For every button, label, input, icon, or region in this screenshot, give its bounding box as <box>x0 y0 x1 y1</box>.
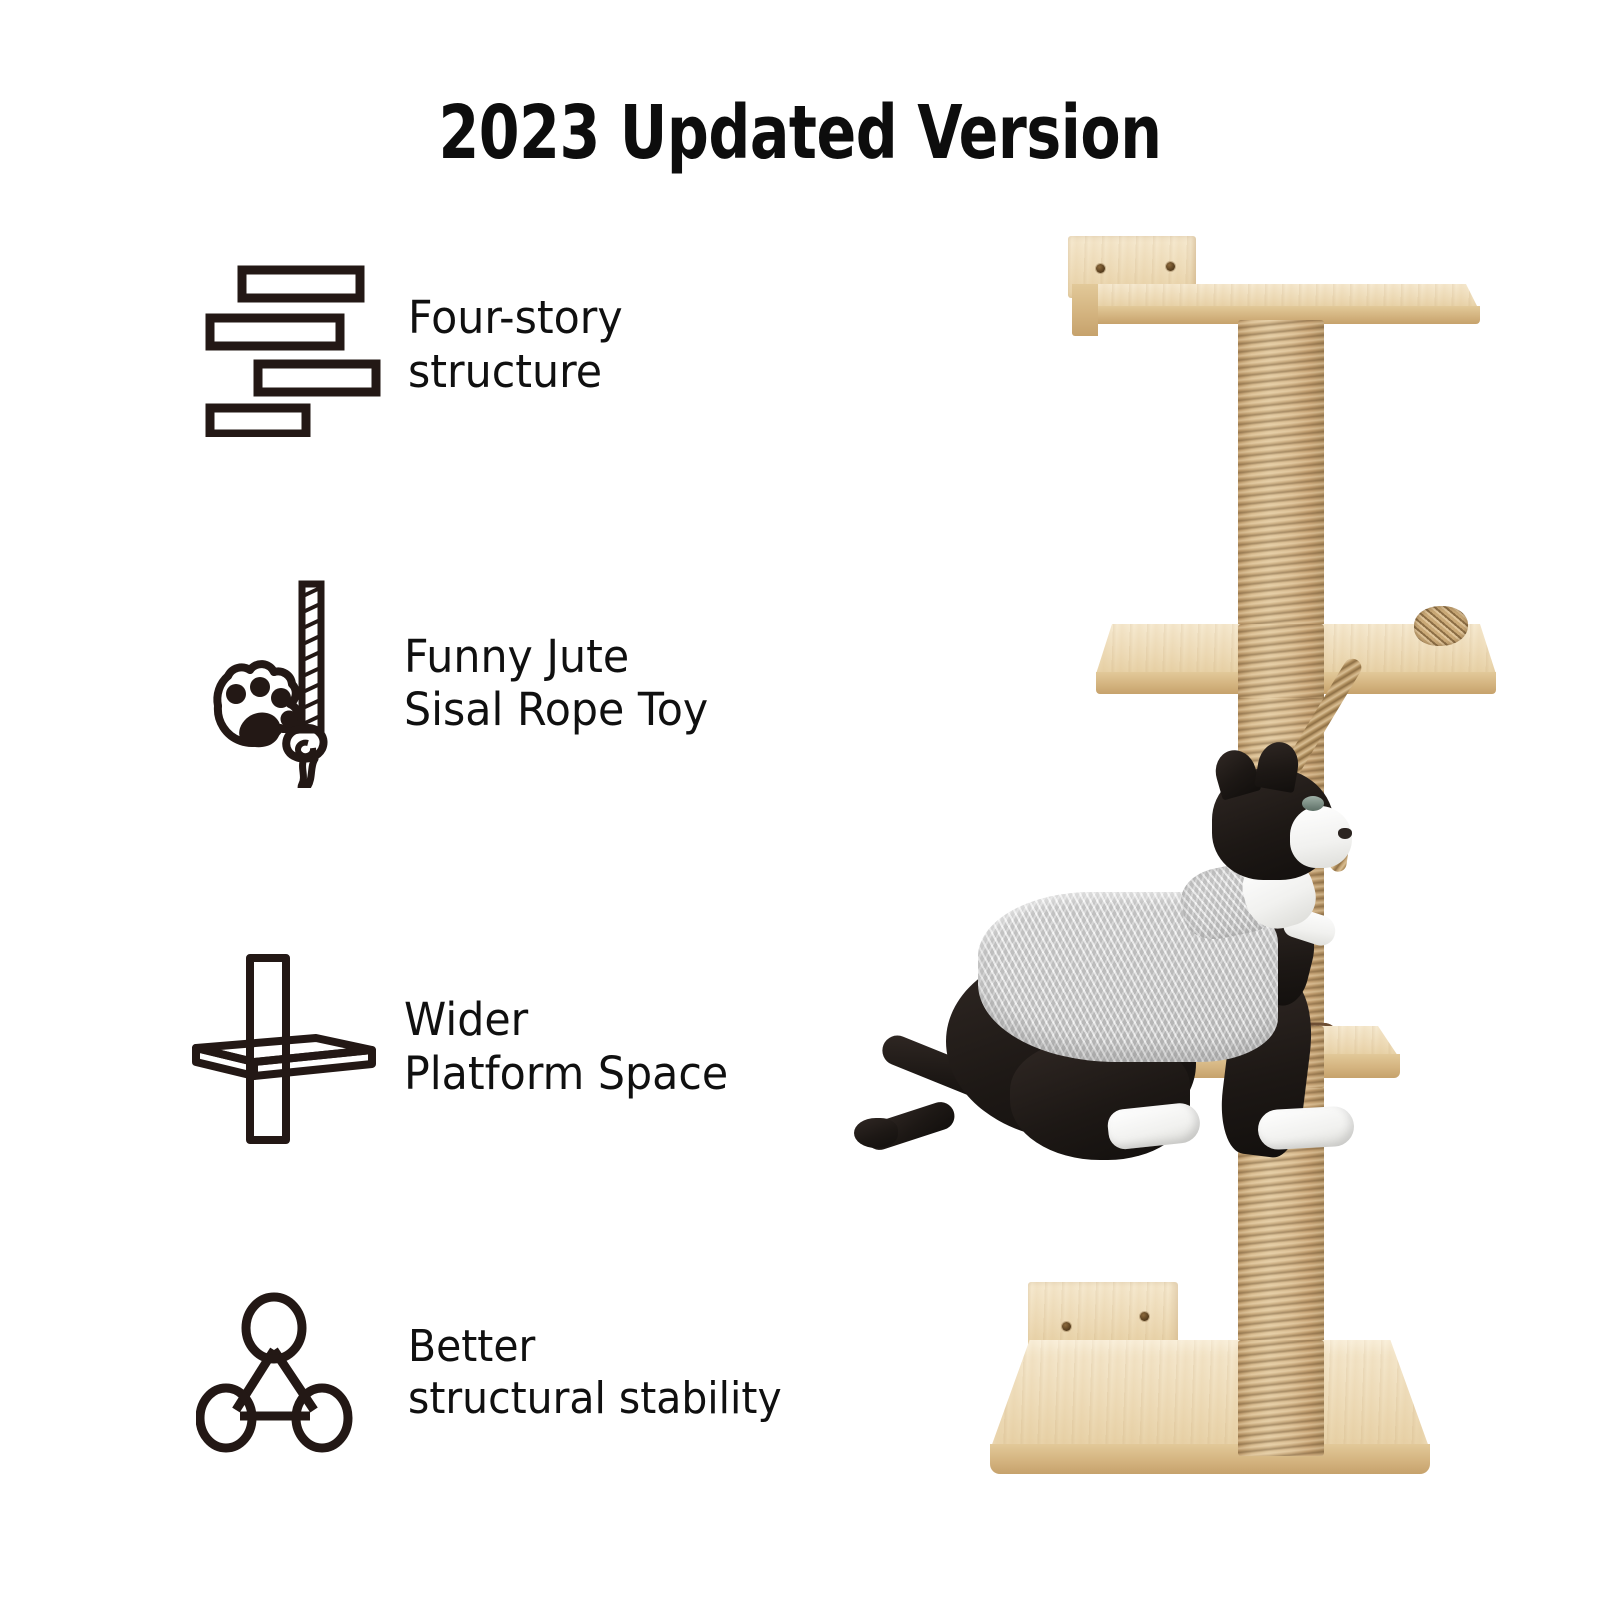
bracket-screw <box>1140 1312 1149 1321</box>
infographic-canvas: 2023 Updated Version Four-storystructure <box>0 0 1600 1600</box>
feature-line-1: Wider <box>404 993 528 1046</box>
feature-item-jute-sisal-rope-toy: Funny JuteSisal Rope Toy <box>196 578 724 788</box>
feature-line-2: structural stability <box>408 1373 782 1424</box>
cat-tail-tip <box>854 1118 898 1148</box>
feature-line-2: Platform Space <box>404 1047 728 1100</box>
cat-nose <box>1338 828 1352 839</box>
triangle-nodes-icon <box>196 1290 386 1455</box>
base-platform-edge <box>990 1444 1430 1474</box>
rope-toy-knot <box>1414 606 1468 646</box>
feature-label-jute-sisal-rope-toy: Funny JuteSisal Rope Toy <box>404 630 708 736</box>
post-segment-over-second-platform <box>1238 624 1324 698</box>
product-image-cat-tree <box>800 200 1600 1550</box>
base-platform-surface <box>990 1340 1430 1450</box>
post-foot <box>1238 1340 1324 1456</box>
tuxedo-cat-in-knit-sweater <box>860 740 1380 1240</box>
stacked-shelves-icon <box>196 252 386 437</box>
feature-line-1: Four-story <box>408 291 623 344</box>
paw-and-hanging-rope-icon <box>196 578 386 788</box>
cat-ear-right <box>1254 739 1302 793</box>
bracket-screw <box>1062 1322 1071 1331</box>
feature-item-four-story-structure: Four-storystructure <box>196 252 634 437</box>
bracket-screw <box>1166 262 1175 271</box>
feature-line-2: Sisal Rope Toy <box>404 683 708 736</box>
feature-label-four-story-structure: Four-storystructure <box>408 291 623 397</box>
top-platform-left-return <box>1072 284 1098 336</box>
cat-front-paw <box>1257 1106 1355 1151</box>
page-title: 2023 Updated Version <box>96 96 1504 170</box>
feature-label-wider-platform-space: WiderPlatform Space <box>404 993 728 1099</box>
feature-item-better-structural-stability: Betterstructural stability <box>196 1290 810 1455</box>
feature-label-better-structural-stability: Betterstructural stability <box>408 1321 782 1425</box>
cat-eye <box>1302 796 1324 811</box>
post-with-platform-icon <box>186 944 386 1149</box>
bracket-screw <box>1096 264 1105 273</box>
base-wall-mount-bracket <box>1028 1282 1178 1348</box>
feature-line-2: structure <box>408 345 602 398</box>
cat-hind-paw <box>1106 1101 1202 1150</box>
feature-line-1: Better <box>408 1321 535 1372</box>
feature-item-wider-platform-space: WiderPlatform Space <box>186 944 745 1149</box>
top-platform-surface <box>1078 284 1478 308</box>
feature-line-1: Funny Jute <box>404 630 629 683</box>
